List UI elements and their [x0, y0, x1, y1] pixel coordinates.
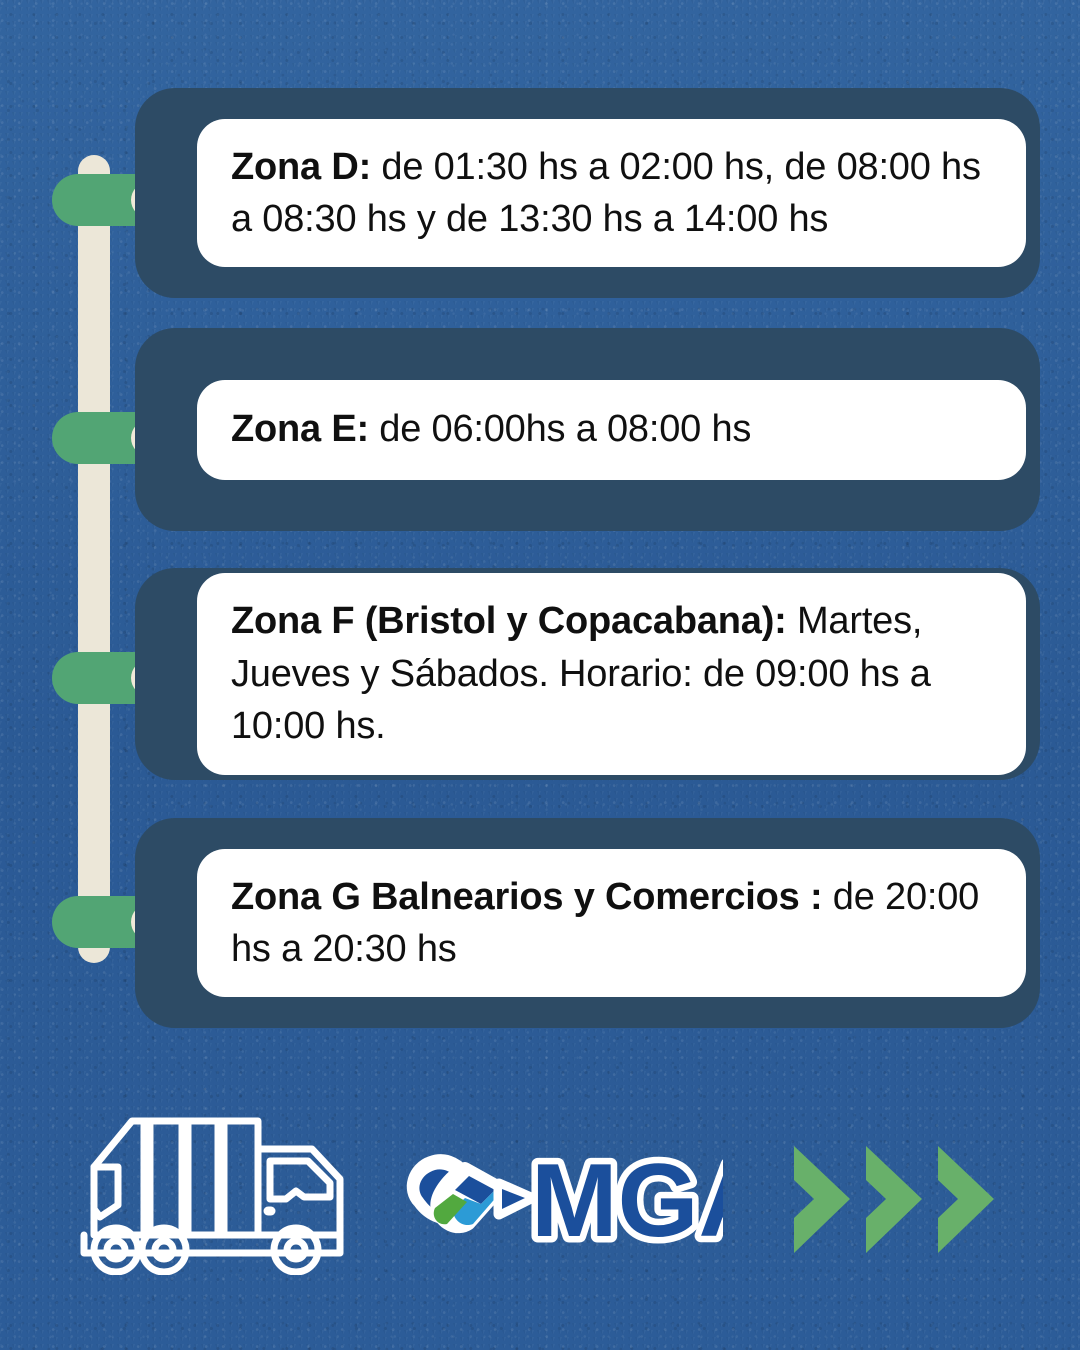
schedule-card-zona-d: Zona D: de 01:30 hs a 02:00 hs, de 08:00…: [135, 88, 1040, 298]
card-title: Zona F (Bristol y Copacabana):: [231, 600, 787, 642]
garbage-truck-icon: [72, 1105, 372, 1275]
chevron-group: [788, 1142, 1003, 1257]
chevron-right-icon: [788, 1142, 856, 1257]
mga-logo: MGA: [403, 1132, 723, 1262]
card-body: Zona G Balnearios y Comercios : de 20:00…: [197, 849, 1026, 998]
card-body: Zona F (Bristol y Copacabana): Martes, J…: [197, 573, 1026, 774]
card-body: Zona E: de 06:00hs a 08:00 hs: [197, 380, 1026, 480]
schedule-card-zona-e: Zona E: de 06:00hs a 08:00 hs: [135, 328, 1040, 531]
mga-capsule-symbol: [413, 1160, 531, 1227]
timeline-bar: [78, 155, 110, 963]
chevron-right-icon: [932, 1142, 1000, 1257]
card-body: Zona D: de 01:30 hs a 02:00 hs, de 08:00…: [197, 119, 1026, 268]
mga-logo-text: MGA: [531, 1143, 723, 1259]
schedule-card-zona-g: Zona G Balnearios y Comercios : de 20:00…: [135, 818, 1040, 1028]
card-text: Zona F (Bristol y Copacabana): Martes, J…: [231, 595, 992, 752]
card-text: Zona D: de 01:30 hs a 02:00 hs, de 08:00…: [231, 141, 992, 246]
card-title: Zona D:: [231, 146, 371, 188]
card-detail: de 06:00hs a 08:00 hs: [369, 408, 751, 450]
chevron-right-icon: [860, 1142, 928, 1257]
card-text: Zona G Balnearios y Comercios : de 20:00…: [231, 871, 992, 976]
schedule-card-zona-f: Zona F (Bristol y Copacabana): Martes, J…: [135, 568, 1040, 780]
card-title: Zona G Balnearios y Comercios :: [231, 876, 822, 918]
card-title: Zona E:: [231, 408, 369, 450]
card-text: Zona E: de 06:00hs a 08:00 hs: [231, 403, 751, 455]
